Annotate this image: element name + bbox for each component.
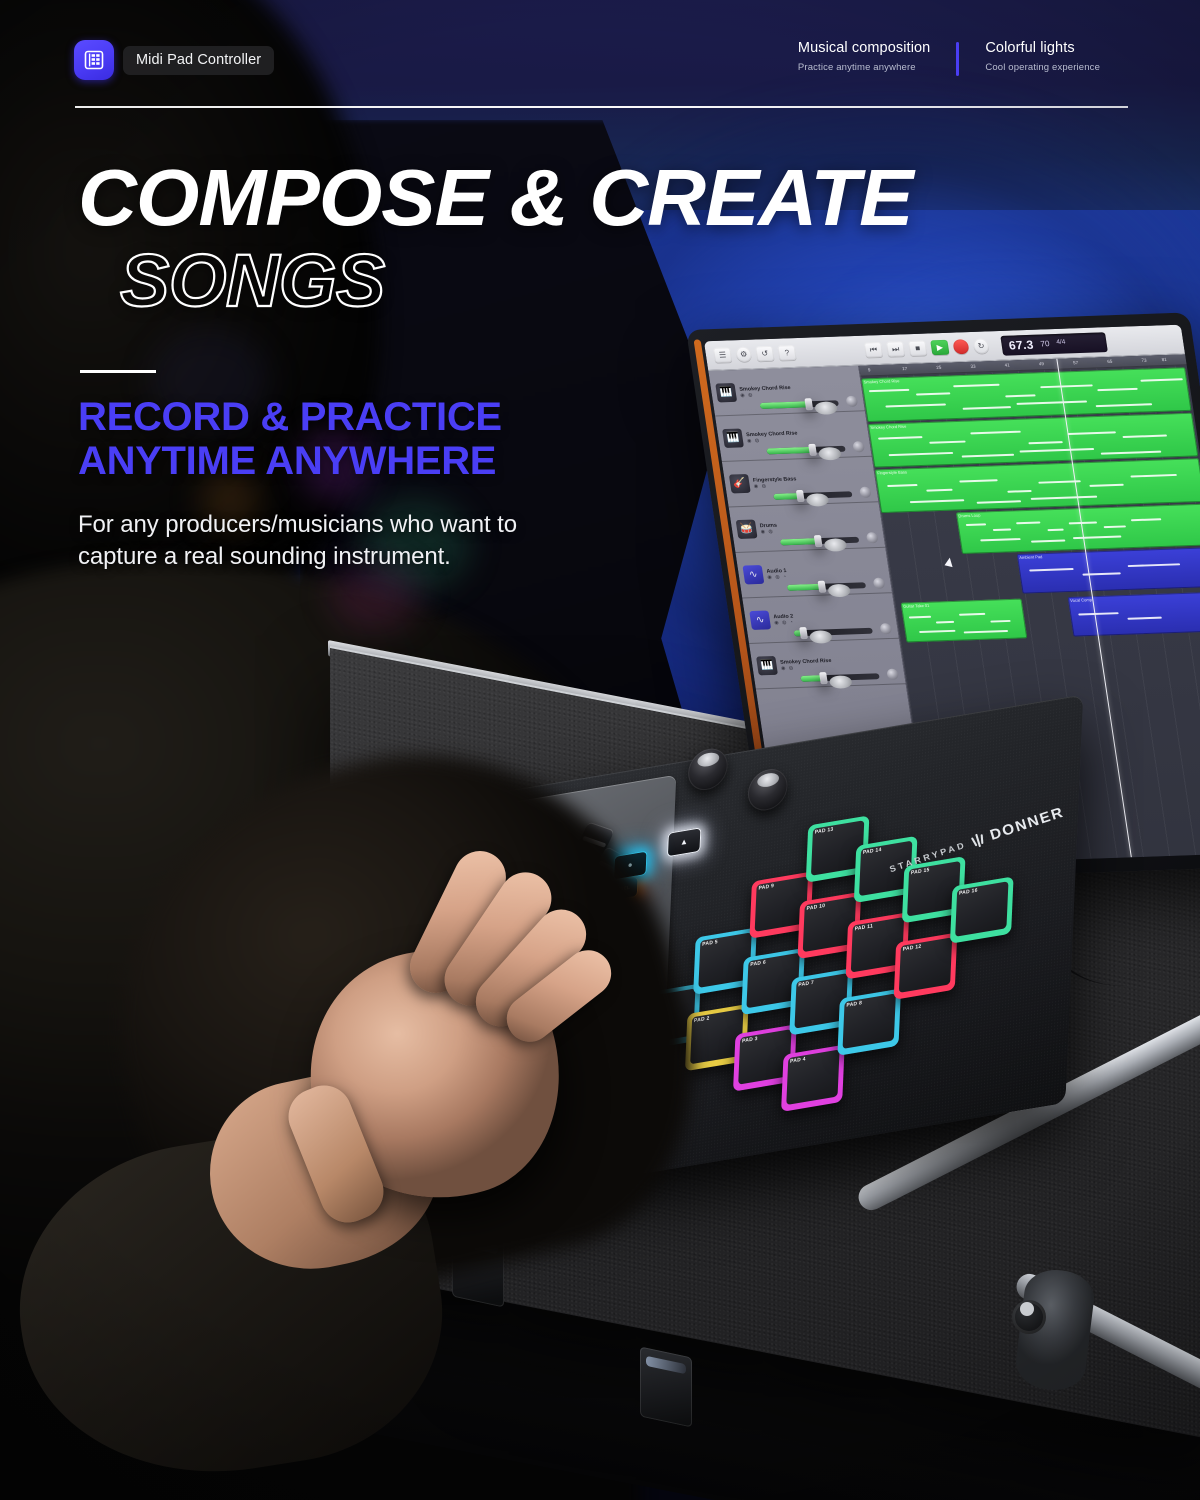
pad-button[interactable]: PAD 8 (837, 988, 901, 1055)
product-banner: ☰ ⚙ ↺ ? ⏮ ⏭ ■ ▶ ↻ 67.3 70 4/4 (0, 0, 1200, 1500)
region-name: Drums Loop (958, 513, 981, 519)
transport-tempo: 70 (1040, 339, 1050, 348)
track-pan-knob[interactable] (859, 487, 872, 498)
daw-forward-icon[interactable]: ⏭ (886, 341, 905, 356)
ruler-mark: 49 (1039, 361, 1045, 366)
pad-button[interactable]: PAD 4 (781, 1045, 845, 1112)
track-pan-knob[interactable] (866, 532, 879, 543)
grid-pad-icon (74, 40, 114, 80)
track-pan-knob[interactable] (886, 669, 899, 680)
region-name: Ambient Pad (1019, 554, 1043, 560)
hero-body-line1: For any producers/musicians who want to (78, 509, 798, 541)
hero-subheadline-line1: RECORD & PRACTICE (78, 395, 798, 439)
donner-logo-icon (969, 831, 986, 848)
ruler-mark: 25 (936, 365, 942, 370)
track-volume-fader[interactable] (794, 628, 873, 637)
region-name: Smokey Chord Rise (870, 424, 907, 430)
track-pan-knob[interactable] (846, 396, 859, 407)
header-features: Musical composition Practice anytime any… (772, 40, 1126, 76)
track-volume-fader[interactable] (787, 582, 866, 591)
hero-subheadline-line2: ANYTIME ANYWHERE (78, 439, 798, 483)
daw-region[interactable]: Drums Loop (956, 504, 1200, 554)
daw-record-button[interactable] (952, 339, 969, 354)
feature-colorful-lights: Colorful lights Cool operating experienc… (959, 40, 1126, 73)
region-name: Guitar Take 01 (903, 603, 930, 609)
piano-icon: 🎹 (756, 656, 778, 675)
hero-body-copy: For any producers/musicians who want to … (78, 509, 798, 573)
daw-play-button[interactable]: ▶ (930, 340, 949, 355)
daw-loop-icon[interactable]: ↻ (972, 338, 989, 353)
daw-transport-display[interactable]: 67.3 70 4/4 (1000, 332, 1108, 355)
ruler-mark: 57 (1073, 360, 1079, 365)
user-hand (250, 840, 670, 1270)
feature-subtitle: Practice anytime anywhere (798, 62, 930, 73)
track-row[interactable]: ∿ Audio 2 ◉ ◍ ◔ (742, 593, 899, 644)
header-divider-rule (75, 106, 1128, 108)
product-badge-label: Midi Pad Controller (123, 46, 274, 75)
daw-rewind-icon[interactable]: ⏮ (864, 342, 883, 357)
pad-button[interactable]: PAD 12 (894, 932, 958, 999)
ruler-mark: 17 (902, 366, 908, 371)
daw-pointer-cursor (945, 557, 954, 568)
hero-copy-block: COMPOSE & CREATE SONGS RECORD & PRACTICE… (78, 160, 798, 574)
hero-subheadline: RECORD & PRACTICE ANYTIME ANYWHERE (78, 395, 798, 483)
track-pan-knob[interactable] (852, 441, 865, 452)
daw-region[interactable]: Ambient Pad (1017, 547, 1200, 593)
track-pan-knob[interactable] (880, 623, 893, 634)
region-name: Fingerstyle Bass (877, 469, 907, 475)
feature-subtitle: Cool operating experience (985, 62, 1100, 73)
daw-stop-icon[interactable]: ■ (908, 341, 927, 356)
hero-headline: COMPOSE & CREATE (78, 160, 812, 237)
ruler-mark: 65 (1107, 359, 1113, 364)
product-badge: Midi Pad Controller (74, 40, 274, 80)
hero-body-line2: capture a real sounding instrument. (78, 541, 798, 573)
feature-musical-composition: Musical composition Practice anytime any… (772, 40, 956, 73)
daw-region[interactable]: Guitar Take 01 (901, 599, 1028, 643)
ruler-mark: 41 (1004, 362, 1010, 367)
waveform-icon: ∿ (749, 610, 771, 629)
hero-headline-outline: SONGS (120, 243, 798, 318)
case-latch-2 (640, 1346, 692, 1427)
hero-accent-rule (80, 370, 156, 373)
track-row[interactable]: 🎹 Smokey Chord Rise ◉ ◍ (749, 639, 906, 690)
transport-position: 67.3 (1008, 337, 1035, 352)
ruler-mark: 9 (868, 367, 871, 372)
ruler-mark: 73 (1141, 358, 1147, 363)
daw-region[interactable]: Vocal Comp (1068, 592, 1200, 637)
page-header: Midi Pad Controller Musical composition … (0, 0, 1200, 110)
feature-title: Musical composition (798, 40, 930, 56)
chevron-up-white-icon: ▲ (680, 838, 688, 848)
ruler-mark: 33 (970, 364, 976, 369)
region-name: Smokey Chord Rise (863, 378, 900, 384)
region-name: Vocal Comp (1070, 597, 1092, 603)
feature-title: Colorful lights (985, 40, 1100, 56)
pad-button[interactable]: PAD 16 (950, 876, 1014, 943)
transport-time-signature: 4/4 (1056, 340, 1066, 347)
ruler-mark: 81 (1161, 357, 1167, 362)
desk-leg-screw (1012, 1300, 1046, 1334)
track-volume-fader[interactable] (800, 673, 879, 682)
track-pan-knob[interactable] (873, 578, 886, 589)
